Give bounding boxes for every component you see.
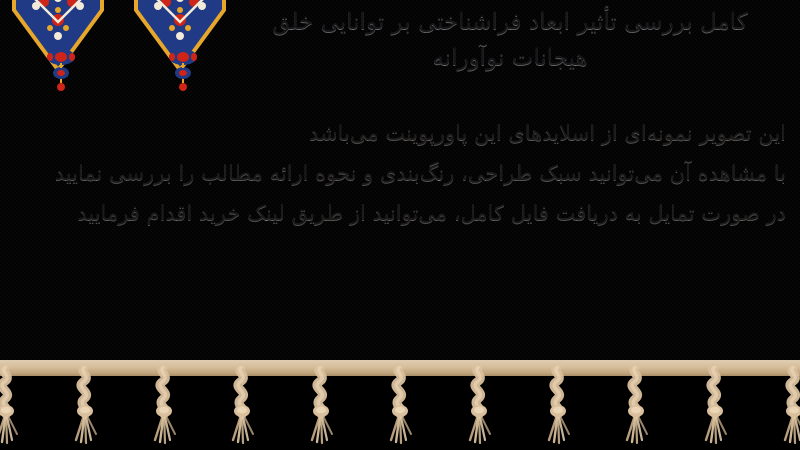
fringe-tassel bbox=[378, 366, 422, 446]
slide-title: کامل بررسی تأثیر ابعاد فراشناختی بر توان… bbox=[230, 4, 790, 76]
fringe-tassel bbox=[536, 366, 580, 446]
fringe-tassel bbox=[693, 366, 737, 446]
fringe-tassel bbox=[457, 366, 501, 446]
fringe-tassel bbox=[142, 366, 186, 446]
medallion-pendant bbox=[166, 48, 200, 94]
fringe-tassel bbox=[614, 366, 658, 446]
slide-body: این تصویر نمونه‌ای از اسلایدهای این پاور… bbox=[6, 113, 786, 233]
fringe-tassel bbox=[772, 366, 800, 446]
body-line-2: با مشاهده آن می‌توانید سبک طراحی، رنگ‌بن… bbox=[6, 153, 786, 193]
medallion-pendant bbox=[44, 48, 78, 94]
body-line-1: این تصویر نمونه‌ای از اسلایدهای این پاور… bbox=[6, 113, 786, 153]
fringe-tassel bbox=[0, 366, 28, 446]
body-line-3: در صورت تمایل به دریافت فایل کامل، می‌تو… bbox=[6, 193, 786, 233]
fringe-tassel bbox=[299, 366, 343, 446]
carpet-fringe-tassels bbox=[0, 360, 800, 450]
fringe-tassel bbox=[63, 366, 107, 446]
fringe-tassel bbox=[220, 366, 264, 446]
slide-canvas: کامل بررسی تأثیر ابعاد فراشناختی بر توان… bbox=[0, 0, 800, 450]
